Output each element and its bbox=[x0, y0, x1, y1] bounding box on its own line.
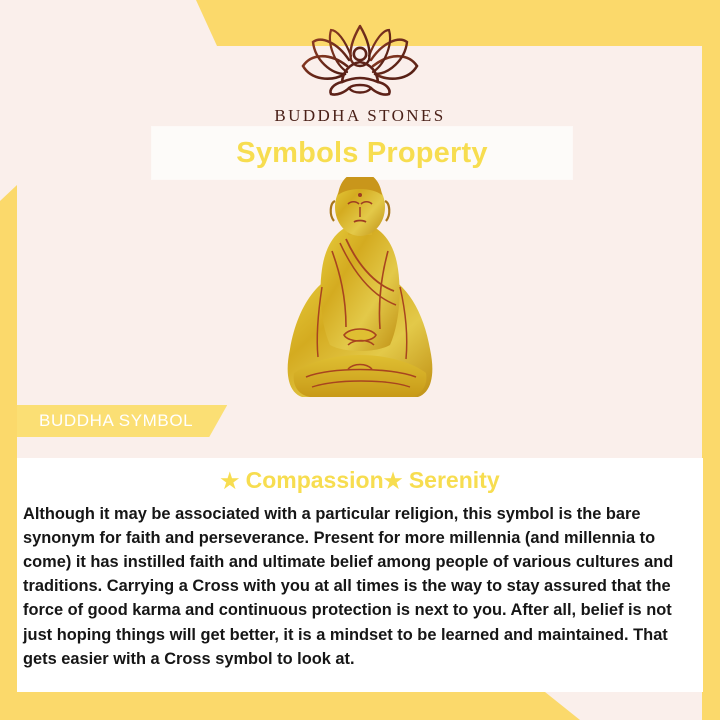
body-paragraph: Although it may be associated with a par… bbox=[23, 502, 697, 671]
tagline: ★ Compassion★ Serenity bbox=[17, 467, 703, 494]
lotus-meditation-icon bbox=[0, 22, 720, 102]
hero-image bbox=[0, 180, 720, 410]
seated-golden-buddha-statue-icon bbox=[260, 177, 460, 410]
decorative-bottom-bar bbox=[0, 692, 580, 720]
star-icon-2: ★ bbox=[384, 470, 403, 493]
page-title: Symbols Property bbox=[236, 137, 487, 170]
star-icon-1: ★ bbox=[220, 470, 239, 493]
brand-logo-block: BUDDHA STONES bbox=[0, 22, 720, 126]
buddha-symbol-tag: BUDDHA SYMBOL bbox=[17, 405, 227, 437]
tagline-word-compassion: Compassion bbox=[246, 467, 384, 493]
infographic-poster: BUDDHA STONES Symbols Property bbox=[0, 0, 720, 720]
tagline-word-serenity: Serenity bbox=[409, 467, 500, 493]
brand-wordmark: BUDDHA STONES bbox=[0, 106, 720, 126]
content-card: ★ Compassion★ Serenity Although it may b… bbox=[17, 458, 703, 692]
buddha-symbol-tag-label: BUDDHA SYMBOL bbox=[39, 411, 193, 431]
title-banner: Symbols Property bbox=[152, 127, 572, 179]
